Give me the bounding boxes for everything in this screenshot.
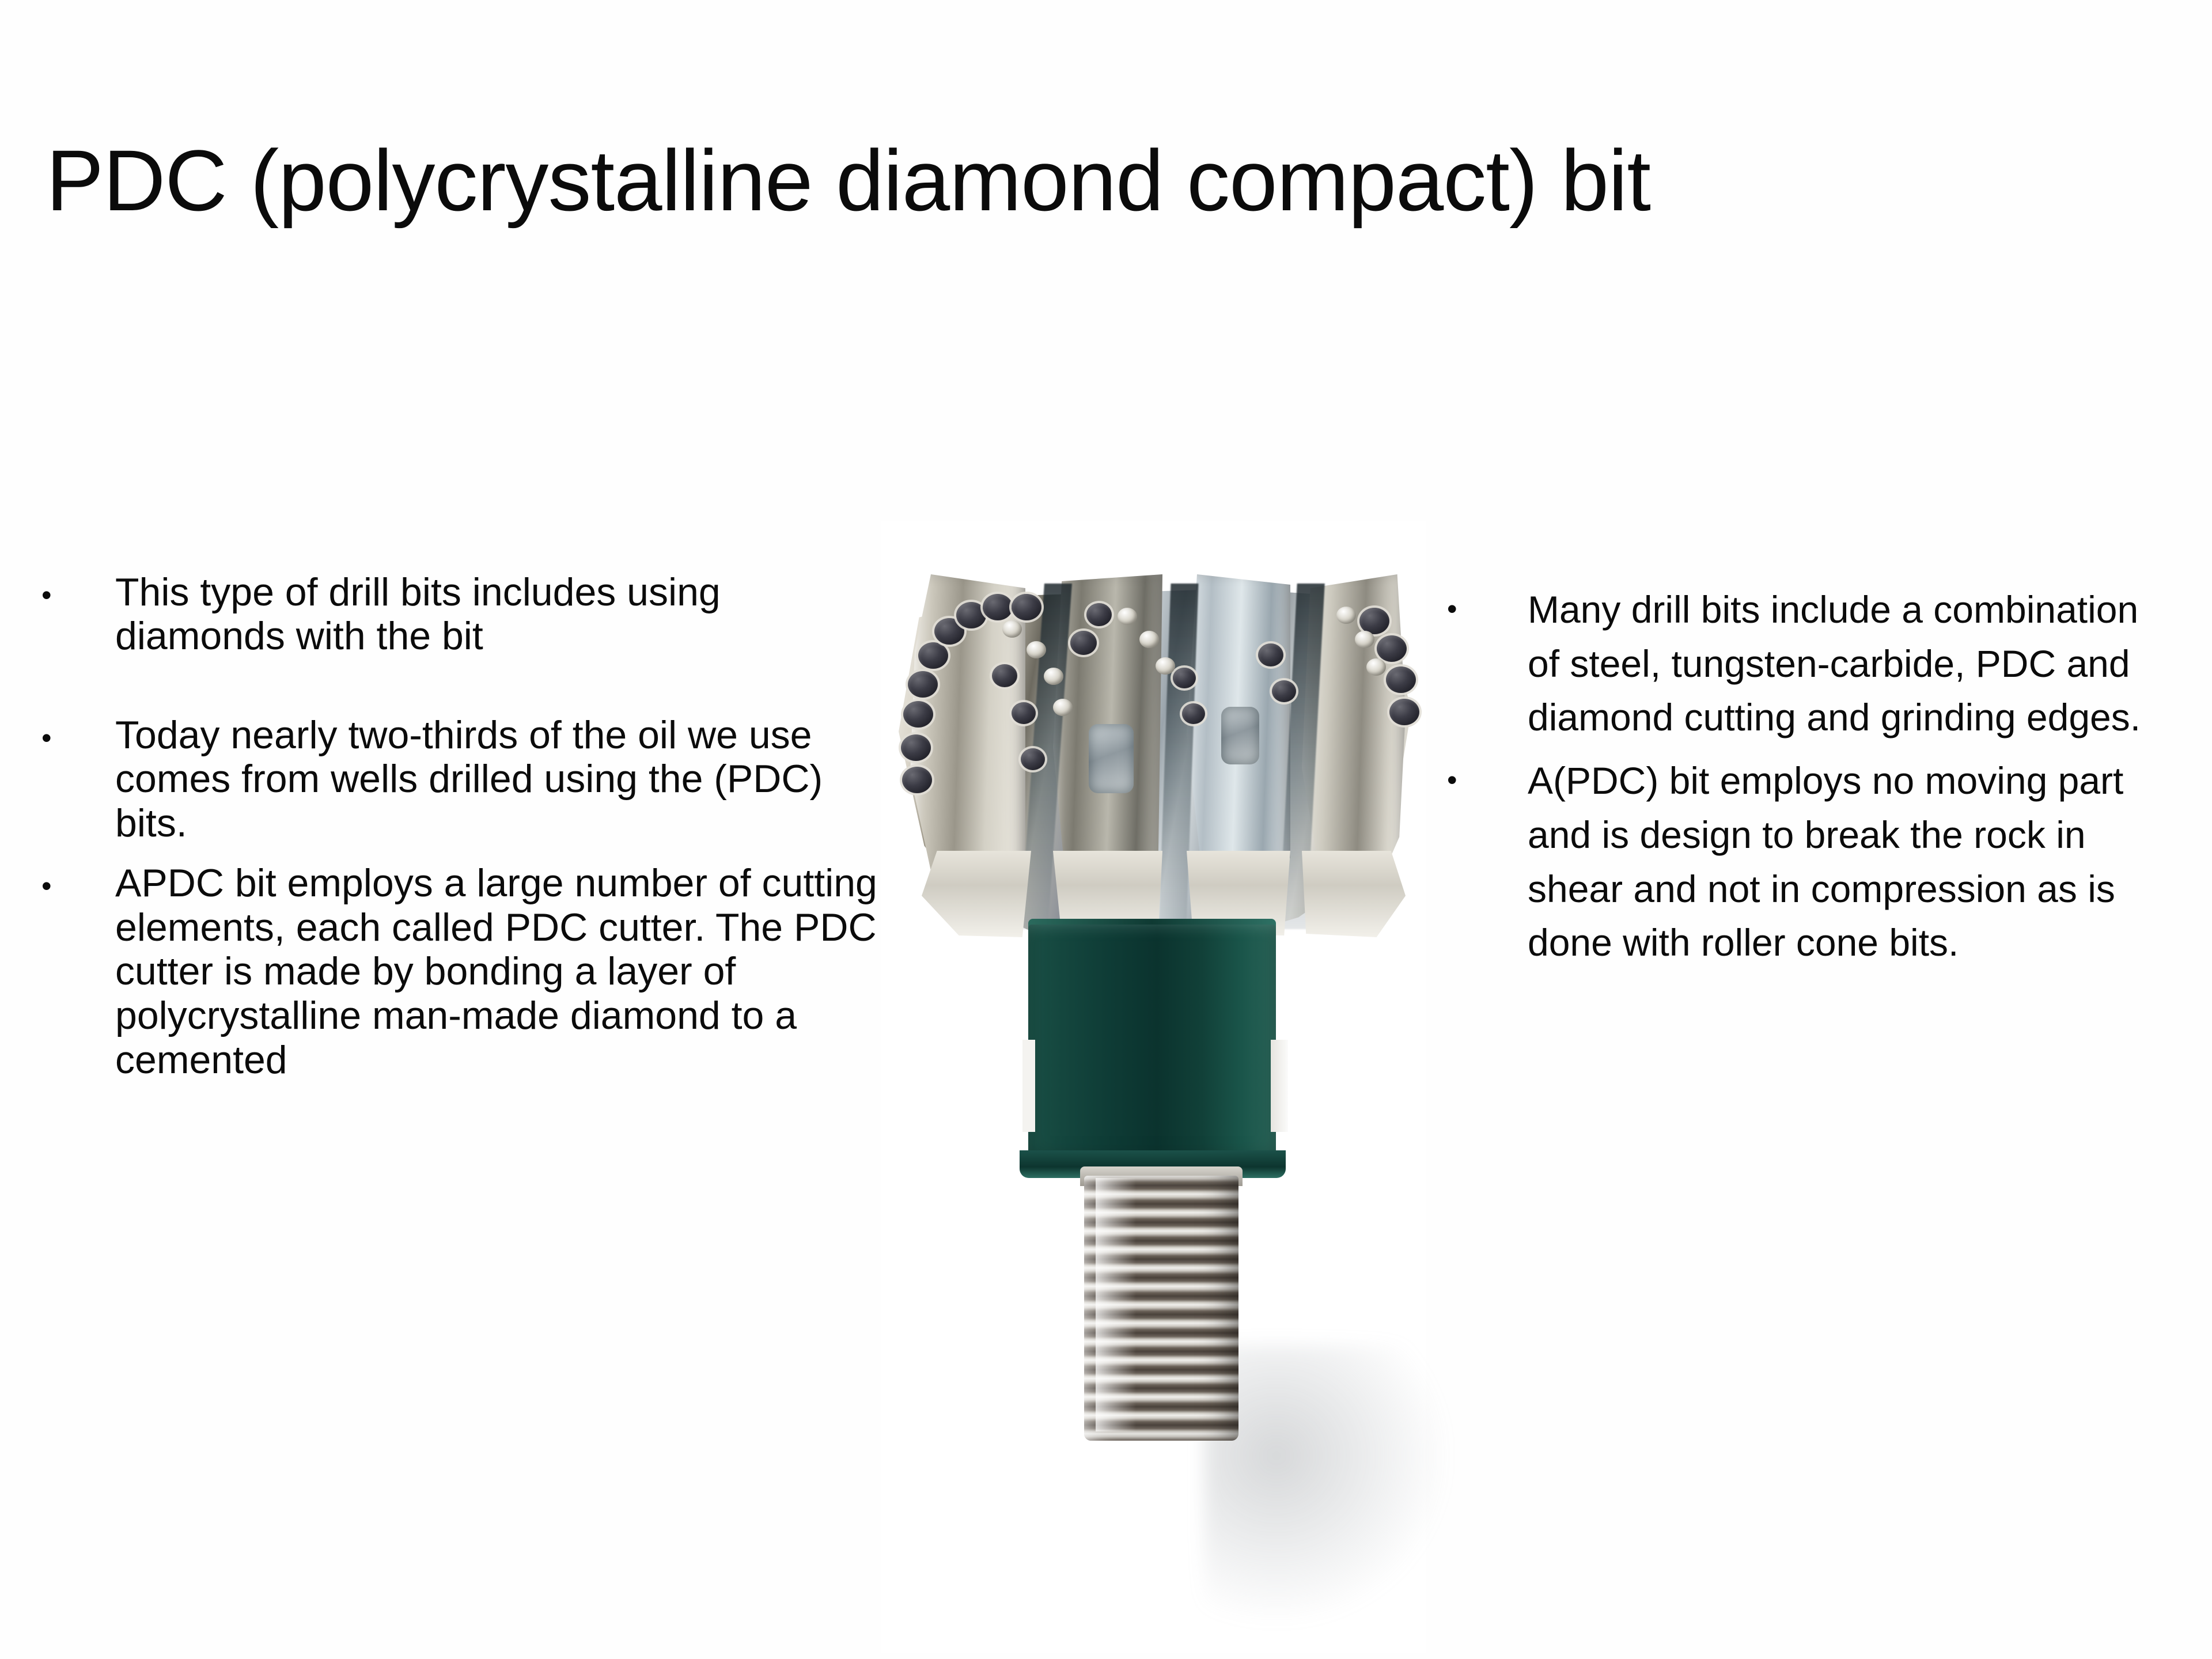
list-item: • A(PDC) bit employs no moving part and … — [1447, 754, 2156, 970]
pdc-cutter — [908, 671, 938, 698]
pdc-cutter — [918, 642, 948, 669]
pdc-drill-bit-image — [881, 521, 1426, 1653]
bullet-marker-icon: • — [41, 861, 115, 900]
bullet-marker-icon: • — [1447, 583, 1528, 623]
list-item: • This type of drill bits includes using… — [41, 570, 900, 658]
carbide-insert — [1118, 608, 1137, 625]
green-shank — [1028, 925, 1276, 1172]
pdc-cutter — [1258, 643, 1283, 666]
carbide-insert — [1156, 657, 1175, 675]
pdc-cutter — [903, 701, 933, 728]
carbide-insert — [1044, 668, 1063, 685]
pdc-cutter — [901, 734, 931, 761]
pdc-cutter — [1272, 680, 1296, 702]
bit-crown — [899, 534, 1411, 937]
list-item-text: This type of drill bits includes using d… — [115, 570, 900, 658]
pdc-cutter — [1386, 666, 1416, 693]
carbide-insert — [1139, 631, 1159, 648]
pdc-cutter — [1389, 699, 1419, 725]
pdc-cutter — [1377, 635, 1407, 662]
list-item: • Today nearly two-thirds of the oil we … — [41, 713, 900, 844]
pdc-cutter — [956, 602, 986, 628]
pdc-cutter — [1021, 748, 1045, 770]
pdc-cutter — [902, 767, 932, 793]
slide-title: PDC (polycrystalline diamond compact) bi… — [46, 137, 2177, 224]
bullet-marker-icon: • — [1447, 754, 1528, 794]
nozzle-port — [1221, 707, 1259, 764]
bullet-marker-icon: • — [41, 713, 115, 752]
carbide-insert — [1027, 641, 1046, 658]
threaded-pin — [1084, 1176, 1238, 1441]
carbide-insert — [1366, 658, 1386, 676]
list-item-text: APDC bit employs a large number of cutti… — [115, 861, 900, 1082]
carbide-insert — [1355, 631, 1374, 648]
pdc-cutter — [1173, 668, 1196, 688]
list-item: • Many drill bits include a combination … — [1447, 583, 2156, 745]
left-content-column: • This type of drill bits includes using… — [41, 570, 900, 1082]
carbide-insert — [1002, 620, 1022, 638]
carbide-insert — [1336, 607, 1356, 624]
pdc-cutter — [1012, 702, 1036, 724]
gauge-pad — [1302, 851, 1406, 937]
pdc-cutter — [1086, 603, 1112, 626]
pdc-cutter — [1070, 631, 1097, 655]
right-content-column: • Many drill bits include a combination … — [1447, 583, 2156, 970]
slide-canvas: PDC (polycrystalline diamond compact) bi… — [0, 0, 2212, 1659]
shank-notch — [1022, 1040, 1035, 1132]
list-item-text: A(PDC) bit employs no moving part and is… — [1528, 754, 2156, 970]
list-item-text: Today nearly two-thirds of the oil we us… — [115, 713, 900, 844]
shank-notch — [1271, 1040, 1288, 1132]
pdc-cutter — [992, 664, 1017, 687]
pdc-cutter — [1182, 703, 1205, 724]
list-item-text: Many drill bits include a combination of… — [1528, 583, 2156, 745]
drop-shadow — [1204, 1345, 1446, 1622]
pdc-cutter — [983, 594, 1013, 620]
list-item: • APDC bit employs a large number of cut… — [41, 861, 900, 1082]
gauge-pad — [922, 851, 1031, 937]
pdc-cutter — [1012, 594, 1041, 620]
nozzle-port — [1089, 724, 1134, 793]
bullet-marker-icon: • — [41, 570, 115, 609]
carbide-insert — [1053, 699, 1073, 716]
